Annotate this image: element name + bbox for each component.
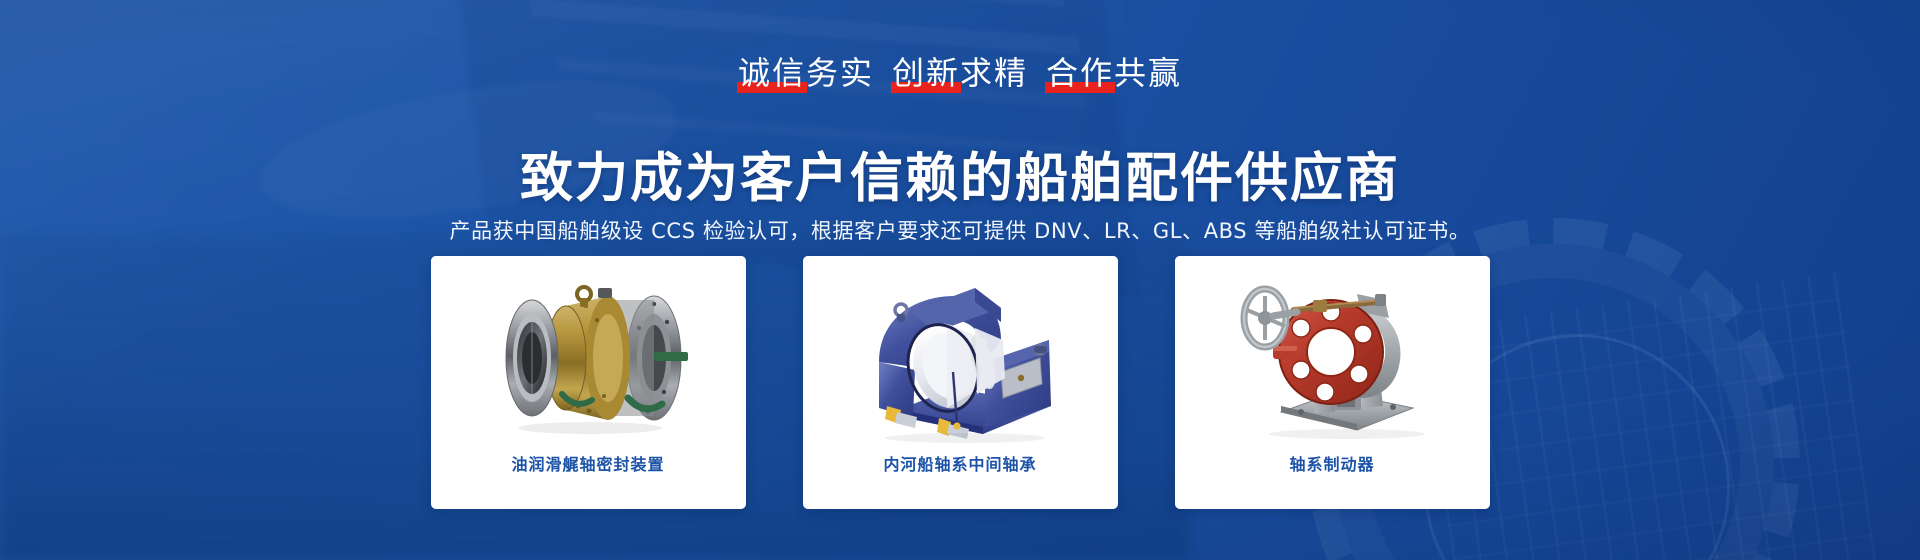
intermediate-bearing-illustration [835, 266, 1085, 444]
slogan-rest-1: 务实 [806, 54, 874, 92]
slogan-phrase-2: 创新求精 [892, 52, 1028, 94]
slogan-highlight-3: 合作 [1046, 52, 1114, 94]
seal-assembly-illustration [458, 266, 718, 444]
product-card-caption: 轴系制动器 [1289, 454, 1374, 476]
stern-shaft-oil-seal-photo [431, 256, 746, 454]
slogan-rest-3: 共赢 [1114, 54, 1182, 92]
product-card[interactable]: 轴系制动器 [1175, 256, 1490, 509]
slogan-phrase-3: 合作共赢 [1046, 52, 1182, 94]
slogan-highlight-2: 创新 [892, 52, 960, 94]
banner-slogan: 诚信务实创新求精合作共赢 [0, 52, 1920, 94]
inland-vessel-intermediate-bearing-photo [803, 256, 1118, 454]
product-card[interactable]: 内河船轴系中间轴承 [803, 256, 1118, 509]
hero-banner: 诚信务实创新求精合作共赢 致力成为客户信赖的船舶配件供应商 产品获中国船舶级设 … [0, 0, 1920, 560]
banner-subtitle: 产品获中国船舶级设 CCS 检验认可，根据客户要求还可提供 DNV、LR、GL、… [0, 216, 1920, 246]
slogan-rest-2: 求精 [960, 54, 1028, 92]
slogan-highlight-1: 诚信 [738, 52, 806, 94]
banner-headline: 致力成为客户信赖的船舶配件供应商 [0, 144, 1920, 214]
banner-content: 诚信务实创新求精合作共赢 致力成为客户信赖的船舶配件供应商 产品获中国船舶级设 … [0, 0, 1920, 560]
slogan-phrase-1: 诚信务实 [738, 52, 874, 94]
shafting-brake-photo [1175, 256, 1490, 454]
product-card-list: 油润滑艉轴密封装置 [0, 256, 1920, 509]
product-card-caption: 油润滑艉轴密封装置 [511, 454, 664, 476]
product-card[interactable]: 油润滑艉轴密封装置 [431, 256, 746, 509]
shaft-brake-illustration [1207, 266, 1457, 444]
product-card-caption: 内河船轴系中间轴承 [883, 454, 1036, 476]
